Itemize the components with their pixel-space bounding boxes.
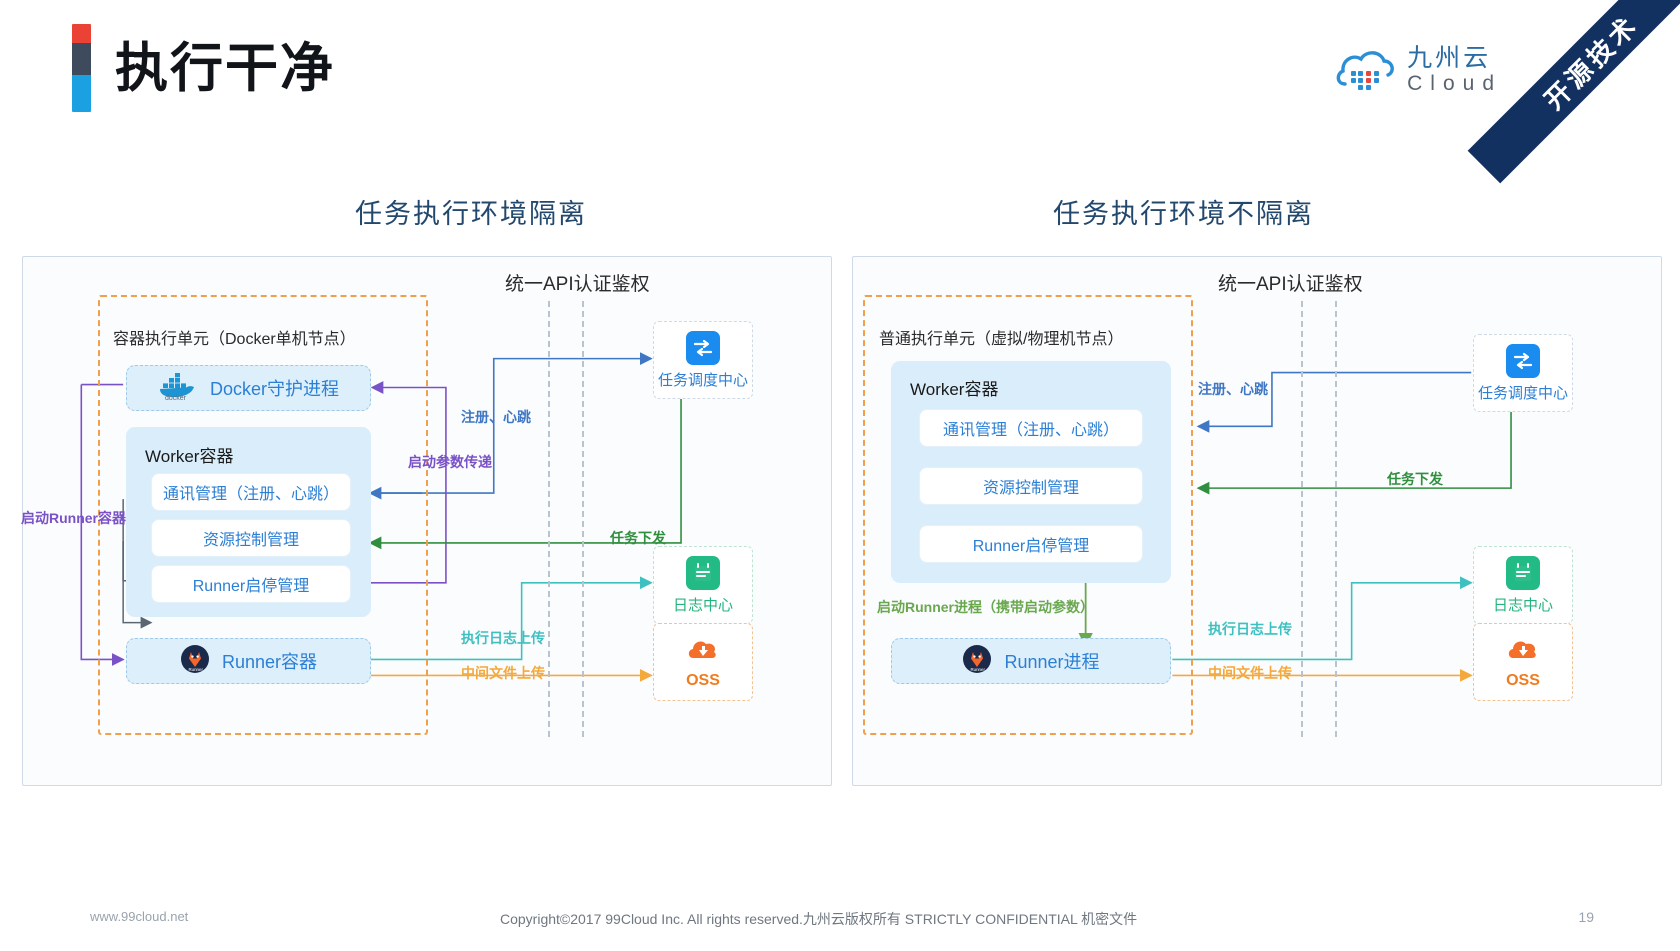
- footer-copyright: Copyright©2017 99Cloud Inc. All rights r…: [500, 909, 1137, 929]
- task-scheduler-icon: [686, 331, 720, 365]
- runner-process-label: Runner进程: [1004, 648, 1099, 674]
- svg-text:Runner: Runner: [971, 667, 986, 672]
- runner-container-label: Runner容器: [222, 648, 317, 674]
- oss-cloud-icon: [686, 634, 720, 668]
- footer-url[interactable]: www.99cloud.net: [90, 909, 188, 924]
- worker-item-resource-ctrl[interactable]: 资源控制管理: [151, 519, 351, 557]
- edge-label-register-heartbeat: 注册、心跳: [461, 407, 531, 427]
- edge-label-register-heartbeat: 注册、心跳: [1198, 379, 1268, 399]
- brand-name-en: Cloud: [1407, 73, 1502, 95]
- worker-item-resource-ctrl[interactable]: 资源控制管理: [919, 467, 1143, 505]
- service-log-center[interactable]: 日志中心: [653, 546, 753, 624]
- non-isolated-environment-diagram: 统一API认证鉴权 普通执行单元（虚拟/物理机节点） Worker容器 通讯管理…: [852, 256, 1662, 786]
- left-panel-caption: 任务执行环境隔离: [355, 192, 587, 231]
- oss-cloud-icon: [1506, 634, 1540, 668]
- docker-daemon-box[interactable]: docker Docker守护进程: [126, 365, 371, 411]
- service-log-center[interactable]: 日志中心: [1473, 546, 1573, 624]
- gitlab-runner-icon: Runner: [962, 644, 992, 679]
- service-task-scheduler-label: 任务调度中心: [1478, 382, 1568, 403]
- worker-container-label: Worker容器: [145, 442, 233, 467]
- slide-footer: www.99cloud.net Copyright©2017 99Cloud I…: [0, 909, 1680, 931]
- title-accent-bar: [72, 24, 91, 112]
- worker-item-runner-lifecycle[interactable]: Runner启停管理: [919, 525, 1143, 563]
- footer-page-number: 19: [1578, 909, 1594, 925]
- brand-logo: 九州云 Cloud: [1335, 44, 1502, 96]
- service-oss[interactable]: OSS: [653, 623, 753, 701]
- worker-item-runner-lifecycle[interactable]: Runner启停管理: [151, 565, 351, 603]
- docker-whale-icon: docker: [158, 372, 198, 405]
- cloud-logo-icon: [1335, 44, 1397, 96]
- svg-text:Runner: Runner: [188, 667, 203, 672]
- edge-label-start-params: 启动参数传递: [408, 452, 492, 472]
- edge-label-task-dispatch: 任务下发: [1387, 469, 1443, 489]
- runner-process-box[interactable]: Runner Runner进程: [891, 638, 1171, 684]
- docker-daemon-label: Docker守护进程: [210, 375, 339, 401]
- svg-text:docker: docker: [165, 395, 187, 400]
- gitlab-runner-icon: Runner: [180, 644, 210, 679]
- service-oss-label: OSS: [686, 672, 720, 690]
- right-panel-caption: 任务执行环境不隔离: [1053, 192, 1314, 231]
- log-center-icon: [686, 556, 720, 590]
- edge-label-file-upload: 中间文件上传: [1208, 663, 1292, 683]
- edge-label-task-dispatch: 任务下发: [610, 528, 666, 548]
- edge-label-log-upload: 执行日志上传: [461, 628, 545, 648]
- edge-label-log-upload: 执行日志上传: [1208, 619, 1292, 639]
- api-auth-column: [548, 301, 584, 737]
- container-exec-unit-label: 容器执行单元（Docker单机节点）: [113, 325, 356, 349]
- worker-container-label: Worker容器: [910, 375, 998, 400]
- api-auth-label: 统一API认证鉴权: [1218, 269, 1363, 296]
- plain-exec-unit-label: 普通执行单元（虚拟/物理机节点）: [879, 325, 1123, 349]
- api-auth-column: [1301, 301, 1337, 737]
- edge-label-start-runner-container: 启动Runner容器: [21, 508, 126, 528]
- edge-label-start-runner-process: 启动Runner进程（携带启动参数）: [877, 597, 1094, 617]
- brand-name-cn: 九州云: [1407, 45, 1502, 71]
- brand-text: 九州云 Cloud: [1407, 45, 1502, 94]
- service-oss[interactable]: OSS: [1473, 623, 1573, 701]
- isolated-environment-diagram: 统一API认证鉴权 容器执行单元（Docker单机节点） docker Dock…: [22, 256, 832, 786]
- worker-item-comm-mgmt[interactable]: 通讯管理（注册、心跳）: [151, 473, 351, 511]
- page-title: 执行干净: [115, 42, 335, 95]
- service-task-scheduler[interactable]: 任务调度中心: [653, 321, 753, 399]
- service-log-center-label: 日志中心: [1493, 594, 1553, 615]
- task-scheduler-icon: [1506, 344, 1540, 378]
- service-log-center-label: 日志中心: [673, 594, 733, 615]
- edge-label-file-upload: 中间文件上传: [461, 663, 545, 683]
- api-auth-label: 统一API认证鉴权: [505, 269, 650, 296]
- runner-container-box[interactable]: Runner Runner容器: [126, 638, 371, 684]
- worker-item-comm-mgmt[interactable]: 通讯管理（注册、心跳）: [919, 409, 1143, 447]
- service-oss-label: OSS: [1506, 672, 1540, 690]
- corner-ribbon-label: 开源技术: [1534, 5, 1645, 116]
- service-task-scheduler[interactable]: 任务调度中心: [1473, 334, 1573, 412]
- service-task-scheduler-label: 任务调度中心: [658, 369, 748, 390]
- log-center-icon: [1506, 556, 1540, 590]
- slide-title-bar: 执行干净: [72, 24, 335, 112]
